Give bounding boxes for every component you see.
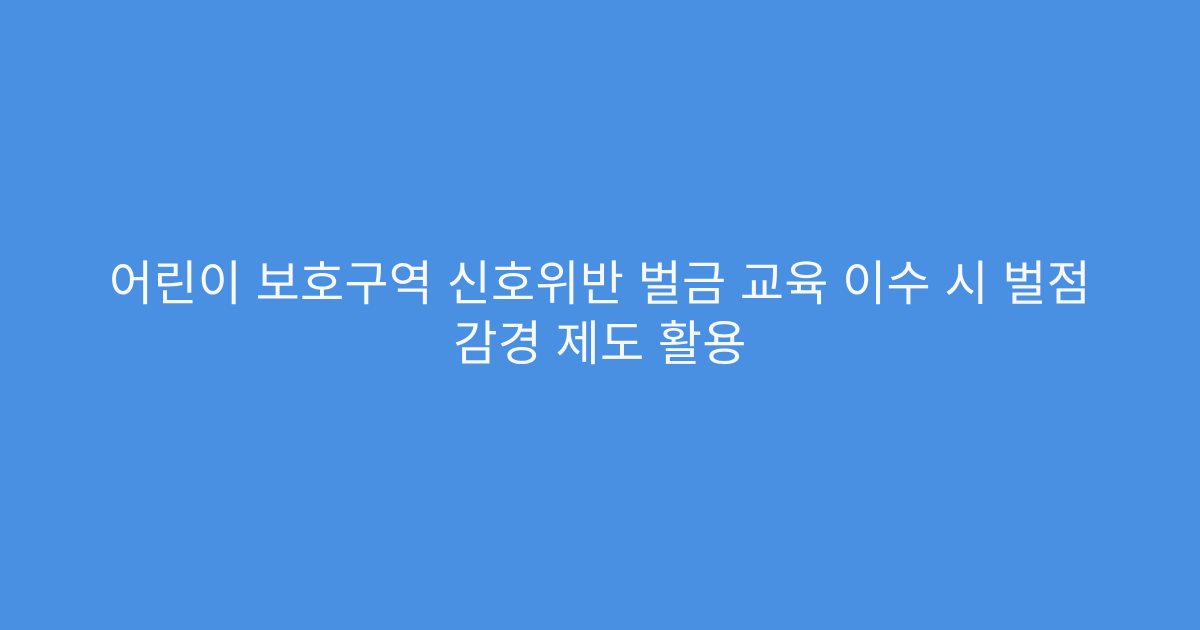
og-card-content: 어린이 보호구역 신호위반 벌금 교육 이수 시 벌점 감경 제도 활용 [0,255,1200,375]
page-title: 어린이 보호구역 신호위반 벌금 교육 이수 시 벌점 감경 제도 활용 [70,255,1130,375]
og-card: 어린이 보호구역 신호위반 벌금 교육 이수 시 벌점 감경 제도 활용 [0,0,1200,630]
